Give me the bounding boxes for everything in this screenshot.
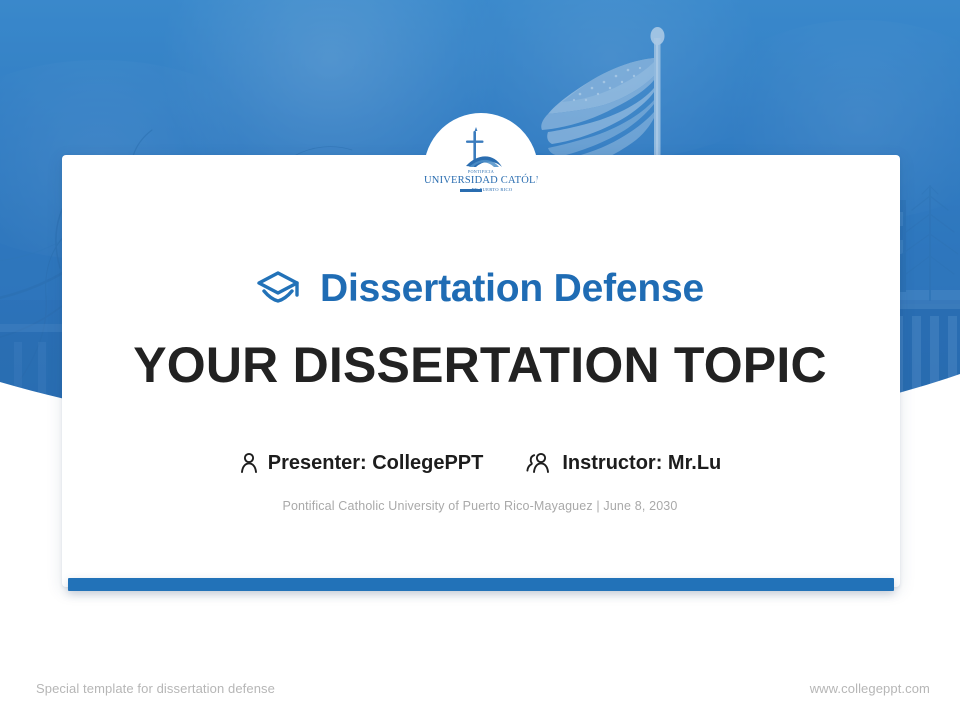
university-logo: PONTIFICIA UNIVERSIDAD CATÓLICA DE PUERT… <box>424 113 538 227</box>
eyebrow-label: Dissertation Defense <box>320 269 704 308</box>
presenter-label: Presenter: CollegePPT <box>268 453 484 473</box>
meta-line: Pontifical Catholic University of Puerto… <box>0 499 960 513</box>
card-accent-bar <box>68 578 894 591</box>
people-row: Presenter: CollegePPT Instructor: Mr.Lu <box>0 452 960 474</box>
presenter-item: Presenter: CollegePPT <box>239 452 484 474</box>
person-icon <box>239 452 259 474</box>
instructor-label: Instructor: Mr.Lu <box>562 453 721 473</box>
graduation-cap-icon <box>256 268 302 308</box>
footer-left-text: Special template for dissertation defens… <box>36 681 275 696</box>
logo-text-top: PONTIFICIA <box>424 169 538 174</box>
eyebrow-row: Dissertation Defense <box>0 268 960 308</box>
presentation-slide: PONTIFICIA UNIVERSIDAD CATÓLICA DE PUERT… <box>0 0 960 720</box>
footer-right-text[interactable]: www.collegeppt.com <box>810 681 930 696</box>
page-title: YOUR DISSERTATION TOPIC <box>0 338 960 392</box>
logo-text-sub: DE PUERTO RICO <box>424 187 538 192</box>
logo-text-main: UNIVERSIDAD CATÓLICA <box>424 175 538 186</box>
people-group-icon <box>525 452 553 474</box>
instructor-item: Instructor: Mr.Lu <box>525 452 721 474</box>
